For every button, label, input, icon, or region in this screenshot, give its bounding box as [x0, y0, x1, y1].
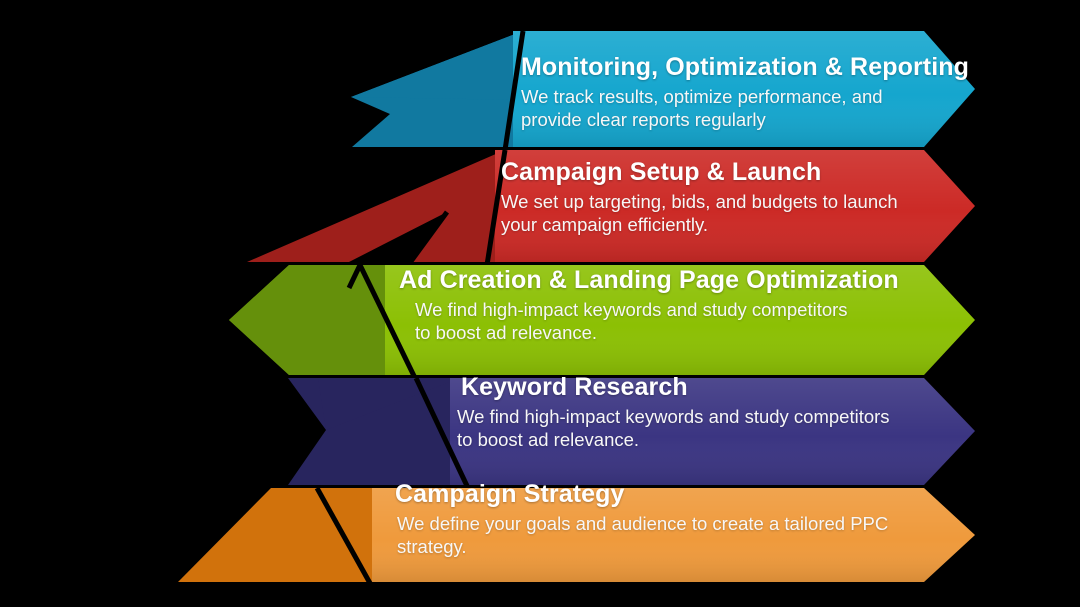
- step-2-desc-line-1: We set up targeting, bids, and budgets t…: [501, 191, 971, 214]
- step-5-title: Campaign Strategy: [395, 481, 965, 507]
- step-4-text-block: Keyword Research We find high-impact key…: [447, 374, 987, 451]
- step-1-desc-line-1: We track results, optimize performance, …: [521, 86, 971, 109]
- step-2-description: We set up targeting, bids, and budgets t…: [501, 191, 971, 236]
- step-1-desc-line-2: provide clear reports regularly: [521, 109, 971, 132]
- step-3-desc-line-1: We find high-impact keywords and study c…: [415, 299, 979, 322]
- step-2-text-block: Campaign Setup & Launch We set up target…: [501, 159, 971, 236]
- diagram-canvas: Monitoring, Optimization & Reporting We …: [0, 0, 1080, 607]
- step-3-desc-line-2: to boost ad relevance.: [415, 322, 979, 345]
- step-5-desc-line-2: strategy.: [397, 536, 965, 559]
- step-4-title: Keyword Research: [461, 374, 987, 400]
- step-4-desc-line-2: to boost ad relevance.: [457, 429, 987, 452]
- step-4-description: We find high-impact keywords and study c…: [457, 406, 987, 451]
- step-1-title: Monitoring, Optimization & Reporting: [521, 54, 971, 80]
- step-2-tail: [247, 150, 505, 262]
- step-3-title: Ad Creation & Landing Page Optimization: [399, 267, 979, 293]
- step-5-tail: [178, 488, 382, 582]
- step-4-desc-line-1: We find high-impact keywords and study c…: [457, 406, 987, 429]
- step-1-text-block: Monitoring, Optimization & Reporting We …: [521, 54, 971, 131]
- step-3-text-block: Ad Creation & Landing Page Optimization …: [399, 267, 979, 344]
- step-5-description: We define your goals and audience to cre…: [397, 513, 965, 558]
- step-1-description: We track results, optimize performance, …: [521, 86, 971, 131]
- step-5-text-block: Campaign Strategy We define your goals a…: [395, 481, 965, 558]
- step-5-desc-line-1: We define your goals and audience to cre…: [397, 513, 965, 536]
- step-3-description: We find high-impact keywords and study c…: [415, 299, 979, 344]
- step-1-tail-upper: [351, 31, 523, 100]
- step-2-desc-line-2: your campaign efficiently.: [501, 214, 971, 237]
- step-2-title: Campaign Setup & Launch: [501, 159, 971, 185]
